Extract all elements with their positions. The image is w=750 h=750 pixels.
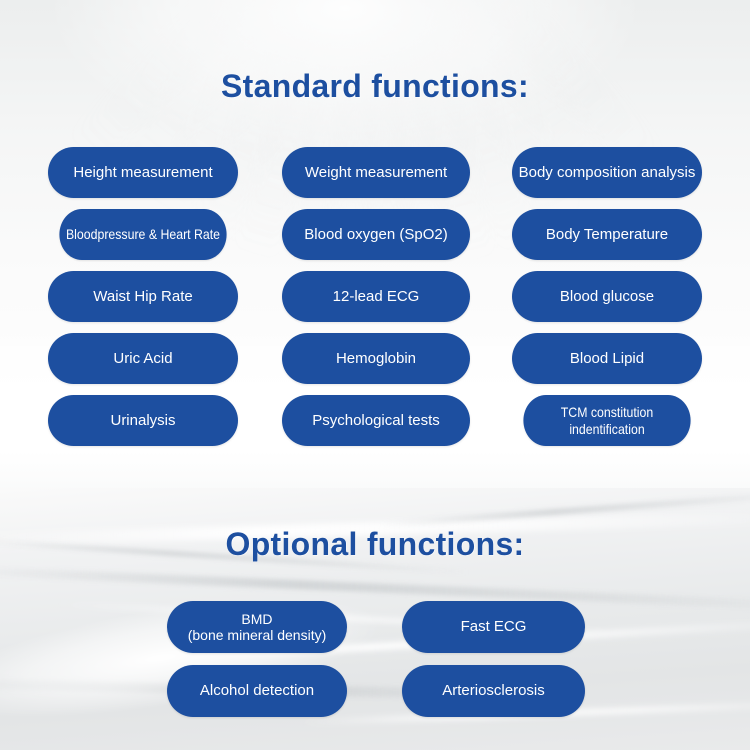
poster-canvas: Standard functions: Optional functions: … xyxy=(0,0,750,750)
section-title-optional: Optional functions: xyxy=(0,526,750,563)
function-pill[interactable]: 12-lead ECG xyxy=(282,271,470,322)
function-pill[interactable]: TCM constitution indentification xyxy=(523,395,690,446)
function-pill[interactable]: Body composition analysis xyxy=(512,147,702,198)
function-pill[interactable]: Blood glucose xyxy=(512,271,702,322)
function-pill[interactable]: Urinalysis xyxy=(48,395,238,446)
function-pill[interactable]: Uric Acid xyxy=(48,333,238,384)
function-pill[interactable]: Bloodpressure & Heart Rate xyxy=(59,209,226,260)
function-pill[interactable]: Waist Hip Rate xyxy=(48,271,238,322)
function-pill[interactable]: Blood oxygen (SpO2) xyxy=(282,209,470,260)
function-pill[interactable]: Fast ECG xyxy=(402,601,585,653)
function-pill[interactable]: Arteriosclerosis xyxy=(402,665,585,717)
function-pill[interactable]: Psychological tests xyxy=(282,395,470,446)
function-pill[interactable]: Hemoglobin xyxy=(282,333,470,384)
function-pill[interactable]: Body Temperature xyxy=(512,209,702,260)
function-pill[interactable]: Weight measurement xyxy=(282,147,470,198)
function-pill[interactable]: Alcohol detection xyxy=(167,665,347,717)
function-pill[interactable]: Height measurement xyxy=(48,147,238,198)
poster-content: Standard functions: Optional functions: … xyxy=(0,0,750,750)
function-pill[interactable]: BMD (bone mineral density) xyxy=(167,601,347,653)
function-pill[interactable]: Blood Lipid xyxy=(512,333,702,384)
section-title-standard: Standard functions: xyxy=(0,68,750,105)
